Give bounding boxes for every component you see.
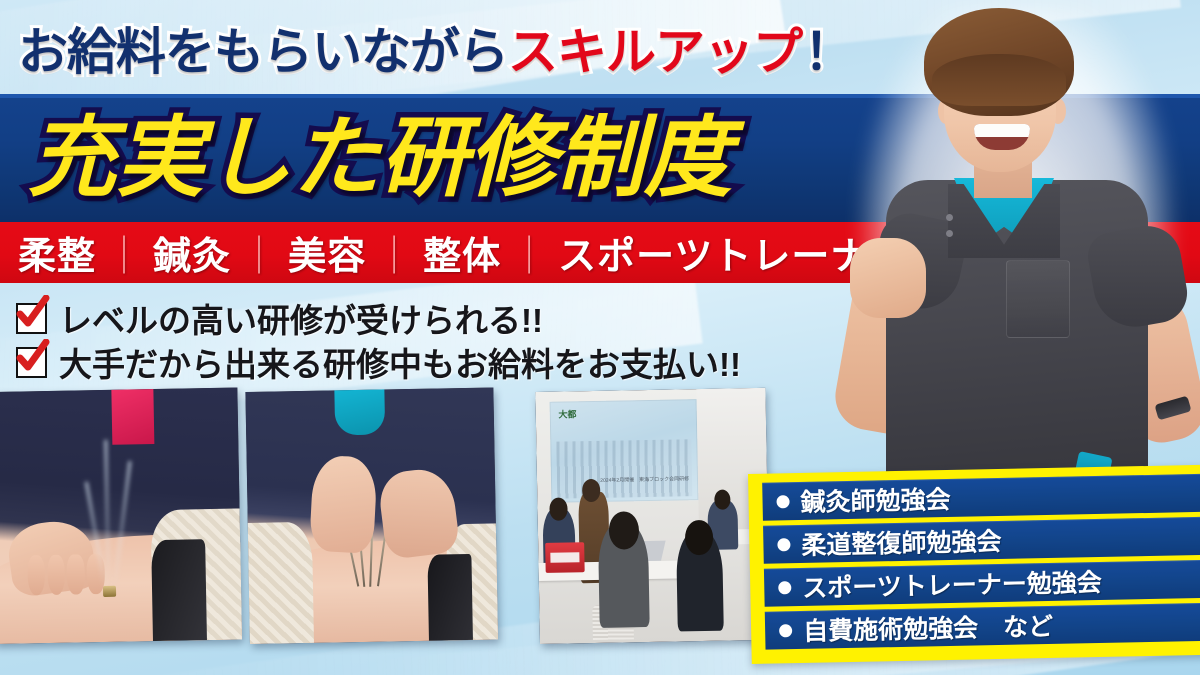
category-separator-1: ｜ — [105, 225, 144, 280]
photo3-projector-screen: 大都 2024年2月開催 東海ブロック合同研修 — [549, 399, 698, 502]
headline-part-1: お給料をもらいながら — [18, 27, 508, 77]
photo3-screen-image — [556, 440, 692, 499]
recruitment-banner: お給料をもらいながらスキルアップ！ 充実した研修制度 柔整 ｜ 鍼灸 ｜ 美容 … — [0, 0, 1200, 675]
checklist-item-label: 大手だから出来る研修中もお給料をお支払い!! — [59, 338, 741, 386]
list-item-label: スポーツトレーナー勉強会 — [802, 563, 1102, 605]
category-separator-2: ｜ — [240, 225, 279, 280]
list-item: スポーツトレーナー勉強会 — [764, 560, 1200, 607]
list-item-label: 自費施術勉強会 など — [803, 607, 1054, 648]
check-mark-icon — [16, 303, 47, 334]
bullet-icon — [776, 495, 789, 508]
category-jusei: 柔整 — [18, 225, 96, 280]
checklist-item: レベルの高い研修が受けられる!! — [16, 298, 816, 338]
photo-acupuncture-needles — [245, 387, 498, 644]
photo3-crate-label — [550, 553, 580, 564]
top-headline: お給料をもらいながらスキルアップ！ — [18, 18, 838, 86]
person-clenched-fist — [850, 238, 926, 318]
photo3-attendee-head — [685, 520, 713, 556]
person-teeth — [974, 124, 1030, 137]
photo1-finger — [47, 555, 65, 596]
headline-part-2: スキルアップ — [508, 27, 802, 77]
photo1-dark-cloth — [151, 539, 207, 641]
checklist-item-label: レベルの高い研修が受けられる!! — [59, 294, 543, 342]
list-item: 自費施術勉強会 など — [765, 603, 1200, 650]
category-separator-3: ｜ — [375, 225, 414, 280]
category-separator-4: ｜ — [510, 225, 549, 280]
red-bar-categories: 柔整 ｜ 鍼灸 ｜ 美容 ｜ 整体 ｜ スポーツトレーナー — [18, 222, 838, 283]
category-shinkyu: 鍼灸 — [153, 225, 231, 280]
photo1-finger — [67, 554, 85, 595]
person-chest-pocket — [1006, 260, 1070, 338]
bullet-icon — [778, 581, 791, 594]
photo1-pink-accent — [111, 389, 154, 445]
list-item-label: 鍼灸師勉強会 — [800, 480, 951, 519]
bullet-icon — [777, 538, 790, 551]
study-group-list-box: 鍼灸師勉強会 柔道整復師勉強会 スポーツトレーナー勉強会 自費施術勉強会 など — [748, 465, 1200, 664]
check-mark-icon — [16, 347, 47, 378]
photo2-towel-left — [245, 522, 314, 644]
checklist-item: 大手だから出来る研修中もお給料をお支払い!! — [16, 342, 816, 382]
photo2-dark-cloth — [427, 554, 473, 640]
photo-moxibustion-treatment — [0, 387, 242, 644]
person-fringe — [932, 54, 1066, 106]
photo1-moxa-cone — [103, 585, 116, 596]
photo-strip: 大都 2024年2月開催 東海ブロック合同研修 — [0, 392, 760, 650]
smiling-therapist-photo — [828, 2, 1200, 502]
photo1-finger — [27, 555, 45, 596]
bullet-icon — [779, 624, 792, 637]
photo-seminar-study-session: 大都 2024年2月開催 東海ブロック合同研修 — [535, 388, 770, 644]
photo3-attendee-head — [549, 497, 568, 520]
main-title: 充実した研修制度 — [28, 102, 828, 214]
photo2-teal-collar — [335, 387, 386, 435]
benefits-checklist: レベルの高い研修が受けられる!! 大手だから出来る研修中もお給料をお支払い!! — [16, 298, 816, 386]
person-uniform-buttons — [946, 214, 953, 221]
list-item: 柔道整復師勉強会 — [763, 517, 1200, 564]
list-item: 鍼灸師勉強会 — [762, 474, 1200, 521]
list-item-label: 柔道整復師勉強会 — [801, 522, 1002, 562]
category-seitai: 整体 — [423, 225, 501, 280]
photo3-screen-title: 大都 — [558, 407, 576, 420]
category-biyou: 美容 — [288, 225, 366, 280]
